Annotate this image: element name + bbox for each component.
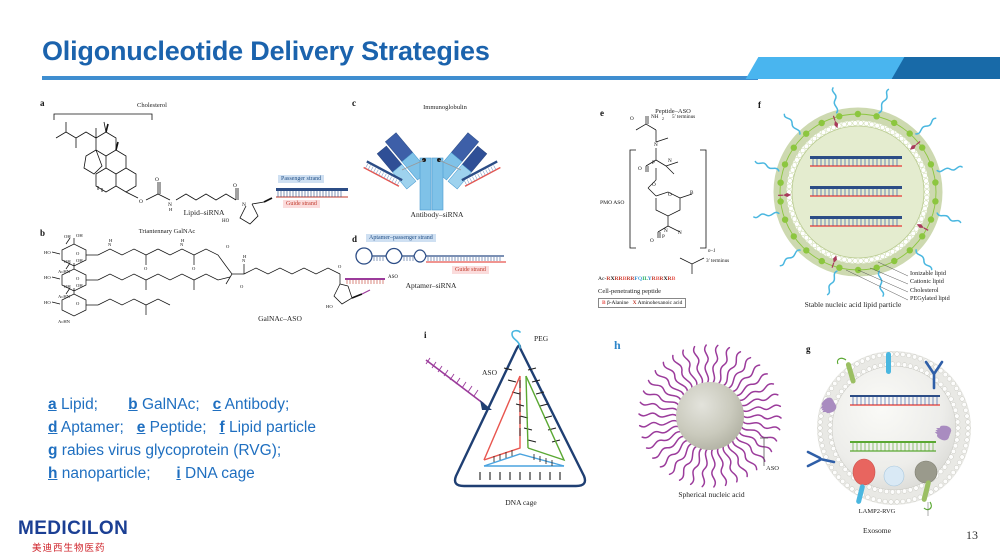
aso-strand (710, 449, 717, 487)
svg-text:N: N (678, 230, 682, 236)
aso-strand (640, 402, 678, 412)
svg-text:H: H (181, 238, 185, 243)
legend-key: h (48, 465, 57, 482)
peptide-key-box: B β-Alanine X Aminohexanoic acid (598, 298, 686, 308)
panel-g-caption: Exosome (832, 526, 922, 535)
panel-e-structure: O NH 2 N O P N O O B N O P N n–1 (600, 108, 760, 298)
protein-cyan-top (886, 352, 891, 374)
aso-strand (712, 345, 719, 383)
svg-text:O: O (652, 182, 656, 188)
peg-chain (916, 116, 936, 136)
svg-text:OH: OH (64, 234, 71, 239)
panel-c-structure (352, 98, 512, 228)
panel-i-structure (424, 330, 614, 510)
sirna-duplex-a (276, 188, 348, 197)
panel-e-peptide: e Peptide–ASO (600, 108, 760, 318)
peg-chain (913, 250, 933, 270)
immunoglobulin-label: Immunoglobulin (400, 104, 490, 111)
panel-b-label: b (40, 228, 45, 238)
panel-d-caption: Aptamer–siRNA (386, 281, 476, 290)
panel-d-aptamer: d Aptamer–passenger strand Guide strand … (352, 234, 512, 304)
panel-d-label: d (352, 234, 357, 244)
svg-text:HO: HO (44, 300, 51, 305)
panel-f-label: f (758, 100, 761, 110)
legend-key: g (48, 442, 57, 459)
svg-text:O: O (338, 264, 342, 269)
header-accent-dark (892, 57, 1000, 79)
svg-text:N: N (668, 158, 672, 164)
panel-c-caption: Antibody–siRNA (392, 210, 482, 219)
panel-c-label: c (352, 98, 356, 108)
logo-text-cn: 美迪西生物医药 (32, 540, 128, 554)
aso-strand (639, 413, 677, 417)
legend-row: g rabies virus glycoprotein (RVG); (48, 439, 316, 462)
key-b-symbol: B (602, 300, 606, 306)
svg-text:O: O (240, 284, 244, 289)
lnp-component: Cholesterol (910, 287, 950, 295)
svg-text:H: H (109, 238, 113, 243)
svg-text:2: 2 (662, 117, 664, 121)
legend-key: b (128, 396, 137, 413)
repeat-label: n–1 (708, 249, 716, 254)
aso-label-cage: ASO (482, 368, 497, 377)
panel-h-caption: Spherical nucleic acid (644, 490, 779, 499)
svg-text:OH: OH (76, 258, 83, 263)
panel-f-caption: Stable nucleic acid lipid particle (778, 300, 928, 309)
panel-f-structure (758, 100, 1000, 300)
peg-chain (876, 271, 886, 296)
svg-text:O: O (144, 266, 148, 271)
panel-i-dna-cage: i (424, 330, 614, 520)
terminus-3-label: 3′ terminus (706, 258, 729, 264)
svg-text:OH: OH (64, 259, 71, 264)
svg-text:O: O (192, 266, 196, 271)
legend-text: Lipid particle (229, 419, 316, 436)
panel-b-galnac: b Triantennary GalNAc (40, 228, 370, 328)
pmo-aso-label: PMO ASO (600, 200, 624, 206)
aso-strand (703, 345, 710, 383)
atom-o1: O (139, 199, 143, 205)
cholesterol-label: Cholesterol (92, 102, 212, 109)
svg-text:P: P (662, 234, 665, 240)
peg-chain (754, 210, 779, 220)
passenger-strand-tag: Passenger strand (278, 175, 324, 183)
svg-text:N: N (654, 142, 658, 148)
panel-b-structure: OHOH HOO AcHN OHOH HOO AcHN OHOH HOO AcH… (40, 228, 370, 328)
svg-text:O: O (233, 183, 237, 189)
aso-strand (660, 438, 689, 469)
panel-g-exosome: g (806, 344, 991, 539)
svg-text:H: H (243, 254, 247, 259)
peg-chain (936, 213, 961, 223)
helix-protein-left (823, 399, 835, 412)
aso-strand (743, 415, 781, 419)
svg-text:P: P (652, 160, 655, 166)
svg-text:AcHN: AcHN (58, 294, 71, 299)
svg-text:O: O (650, 238, 654, 244)
legend-key: e (137, 419, 146, 436)
svg-text:OH: OH (64, 284, 71, 289)
panel-h-label: h (614, 338, 621, 353)
panel-h-structure: ASO (614, 338, 814, 503)
aso-strand (732, 363, 761, 394)
guide-strand-tag: Guide strand (283, 200, 320, 208)
panel-a-label: a (40, 98, 45, 108)
svg-text:HO: HO (44, 275, 51, 280)
galnac-top-label: Triantennary GalNAc (102, 228, 232, 235)
aso-strand (717, 347, 730, 385)
aso-strand (742, 420, 780, 430)
svg-text:AcHN: AcHN (58, 319, 71, 324)
svg-text:O: O (630, 116, 634, 122)
svg-text:O: O (226, 244, 230, 249)
peg-chain-cage (512, 331, 520, 348)
legend-text: nanoparticle; (62, 465, 151, 482)
svg-text:O: O (76, 276, 80, 281)
aso-strand (722, 351, 741, 387)
vesicle-red (853, 459, 875, 485)
svg-text:HO: HO (222, 219, 230, 224)
panel-i-label: i (424, 330, 427, 340)
svg-text:OH: OH (76, 283, 83, 288)
peg-chain (827, 270, 837, 295)
base-label: B (690, 190, 694, 196)
key-x-symbol: X (633, 300, 637, 306)
legend-text: GalNAc; (142, 396, 200, 413)
legend-row: h nanoparticle; i DNA cage (48, 462, 316, 485)
helix-protein-right (939, 427, 950, 439)
svg-text:AcHN: AcHN (58, 269, 71, 274)
medicilon-logo: MEDICILON 美迪西生物医药 (18, 519, 128, 554)
svg-text:O: O (638, 166, 642, 172)
peptide-aso-label: Peptide–ASO (628, 108, 718, 115)
legend-text: DNA cage (185, 465, 255, 482)
figure-legend: a Lipid; b GalNAc; c Antibody; d Aptamer… (48, 393, 316, 485)
panel-e-label: e (600, 108, 604, 118)
svg-text:O: O (668, 192, 672, 198)
legend-key: a (48, 396, 57, 413)
legend-key: d (48, 419, 57, 436)
lamp2-rvg-label: LAMP2-RVG (832, 508, 922, 515)
aso-arrow-cage (426, 358, 492, 410)
peg-chain (879, 89, 889, 114)
legend-key: i (176, 465, 180, 482)
key-b-text: β-Alanine (607, 300, 629, 306)
svg-text:O: O (76, 251, 80, 256)
aso-strand (734, 436, 766, 462)
aso-strand (701, 449, 708, 487)
slide-canvas: Oligonucleotide Delivery Strategies a Ch… (0, 0, 1000, 557)
vesicle-blue (884, 466, 904, 486)
panel-f-lipid-particle: f (758, 100, 1000, 315)
aso-label-sna: ASO (766, 465, 779, 472)
legend-text: Lipid; (61, 396, 98, 413)
peg-label-cage: PEG (534, 334, 548, 343)
lnp-component: Cationic lipid (910, 278, 950, 286)
lnp-component-list: Ionizable lipid Cationic lipid Cholester… (910, 270, 950, 304)
logo-text-en: MEDICILON (18, 519, 128, 538)
aso-strand (690, 447, 703, 485)
peptide-sequence-row: Ac-RXRRBRRFQILYRBRXRB (598, 276, 675, 282)
aso-strand (741, 392, 778, 408)
legend-key: f (219, 419, 224, 436)
peg-chain (830, 88, 840, 113)
guide-strand-tag-d: Guide strand (452, 266, 489, 274)
legend-text: Peptide; (150, 419, 207, 436)
aso-strand (642, 424, 679, 440)
panel-g-label: g (806, 344, 811, 354)
svg-text:O: O (155, 177, 159, 183)
panel-h-nanoparticle: h ASO Spherical nucleic acid (614, 338, 814, 523)
panel-c-antibody: c Immunoglobulin (352, 98, 512, 228)
panel-b-caption: GalNAc–ASO (245, 314, 315, 323)
aso-strand (653, 370, 685, 396)
peg-chain (782, 114, 802, 134)
svg-text:HO: HO (326, 304, 333, 309)
page-title: Oligonucleotide Delivery Strategies (42, 36, 490, 67)
panel-g-structure (806, 344, 991, 524)
aptamer-passenger-tag: Aptamer–passenger strand (366, 234, 436, 242)
svg-text:HO: HO (44, 250, 51, 255)
key-x-text: Aminohexanoic acid (638, 300, 683, 306)
svg-text:O: O (76, 301, 80, 306)
legend-text: Antibody; (225, 396, 290, 413)
panel-i-caption: DNA cage (476, 498, 566, 507)
cpp-label: Cell-penetrating peptide (598, 288, 708, 295)
legend-key: c (213, 396, 222, 413)
svg-text:OH: OH (76, 233, 83, 238)
legend-text: Aptamer; (61, 419, 124, 436)
peg-chain (755, 161, 780, 171)
peg-chain (780, 247, 800, 267)
aso-strand (679, 445, 698, 481)
peg-chain (937, 164, 962, 174)
lnp-component: Ionizable lipid (910, 270, 950, 278)
page-number: 13 (966, 528, 978, 543)
title-underline (42, 76, 758, 80)
panel-a-lipid: a Cholesterol O O N H (40, 98, 360, 223)
legend-text: rabies virus glycoprotein (RVG); (62, 442, 281, 459)
panel-a-caption: Lipid–siRNA (164, 208, 244, 217)
vesicle-gray (915, 461, 937, 483)
legend-row: a Lipid; b GalNAc; c Antibody; (48, 393, 316, 416)
legend-row: d Aptamer; e Peptide; f Lipid particle (48, 416, 316, 439)
peptide-residue: B (672, 276, 676, 282)
